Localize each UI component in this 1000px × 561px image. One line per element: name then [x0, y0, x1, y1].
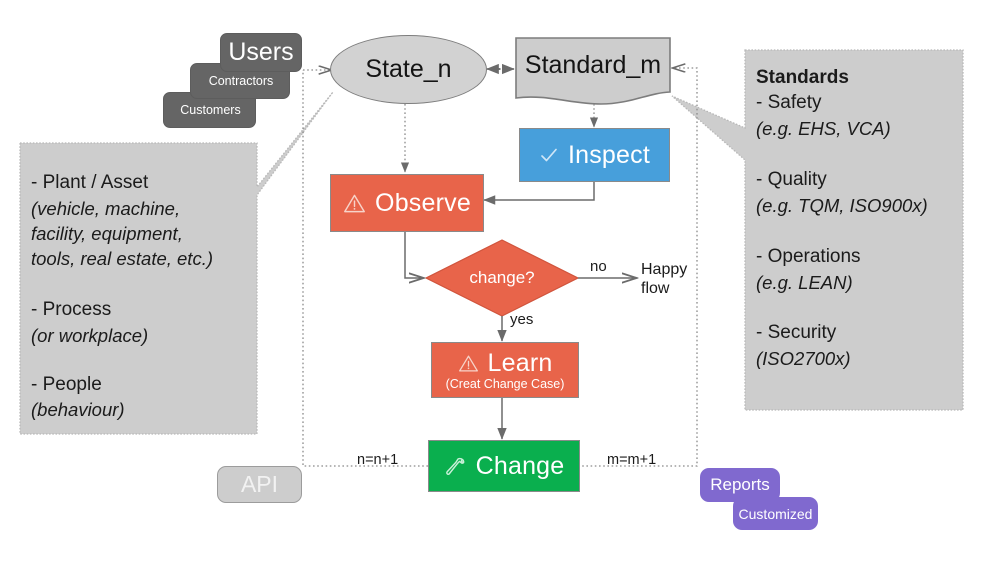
user-card-customers-label: Customers — [178, 103, 240, 117]
right-panel-line-5: - Operations — [756, 245, 861, 270]
user-card-contractors-label: Contractors — [207, 74, 274, 88]
node-inspect-label: Inspect — [568, 141, 650, 170]
left-panel-line-1: (vehicle, machine, — [31, 197, 180, 221]
left-panel-line-7: (behaviour) — [31, 398, 125, 422]
chip-api-label: API — [241, 471, 278, 498]
edge-change-to-state-feedback — [303, 70, 428, 466]
warning-triangle-icon — [458, 354, 479, 373]
node-change[interactable]: Change — [428, 440, 580, 492]
node-standard-m[interactable]: Standard_m — [516, 38, 670, 92]
user-card-users[interactable]: Users — [220, 33, 302, 72]
node-learn-sublabel: (Creat Change Case) — [446, 377, 565, 391]
node-state-n-label: State_n — [365, 55, 451, 84]
check-icon — [539, 145, 559, 165]
diagram-canvas: Customers Contractors Users - Plant / As… — [0, 0, 1000, 561]
node-learn[interactable]: Learn (Creat Change Case) — [431, 342, 579, 398]
edge-label-m-increment: m=m+1 — [607, 452, 656, 468]
user-card-users-label: Users — [228, 38, 293, 67]
right-panel-line-7: - Security — [756, 321, 836, 346]
left-panel-line-0: - Plant / Asset — [31, 171, 148, 196]
right-panel-line-1: - Safety — [756, 91, 821, 116]
chip-customized-label: Customized — [739, 506, 813, 522]
left-panel-line-3: tools, real estate, etc.) — [31, 247, 213, 271]
right-panel-line-3: - Quality — [756, 168, 827, 193]
chip-reports-label: Reports — [710, 475, 770, 495]
right-panel-line-2: (e.g. EHS, VCA) — [756, 117, 891, 141]
edge-label-happy-flow-line2: flow — [641, 280, 669, 298]
left-panel-line-4: - Process — [31, 298, 111, 323]
node-observe-label: Observe — [375, 189, 471, 218]
chip-api[interactable]: API — [217, 466, 302, 503]
node-state-n[interactable]: State_n — [330, 35, 487, 104]
left-panel-line-5: (or workplace) — [31, 324, 148, 348]
edge-label-no: no — [590, 258, 607, 275]
node-decision-change[interactable]: change? — [452, 266, 552, 290]
left-panel-line-6: - People — [31, 373, 102, 398]
node-decision-label: change? — [469, 268, 534, 288]
right-panel-line-8: (ISO2700x) — [756, 347, 851, 371]
right-panel-line-4: (e.g. TQM, ISO900x) — [756, 194, 928, 218]
edge-label-n-increment: n=n+1 — [357, 452, 398, 468]
node-inspect[interactable]: Inspect — [519, 128, 670, 182]
right-panel-line-0: Standards — [756, 66, 849, 91]
right-panel-line-6: (e.g. LEAN) — [756, 271, 853, 295]
edge-observe-to-decision — [405, 232, 423, 278]
left-panel-line-2: facility, equipment, — [31, 222, 183, 246]
node-learn-title-row: Learn — [458, 349, 553, 378]
edge-label-yes: yes — [510, 311, 533, 328]
warning-triangle-icon — [343, 193, 366, 214]
node-change-label: Change — [476, 452, 565, 481]
hammer-icon — [444, 456, 467, 477]
node-observe[interactable]: Observe — [330, 174, 484, 232]
edge-inspect-to-observe — [484, 182, 594, 200]
chip-customized[interactable]: Customized — [733, 497, 818, 530]
edge-label-happy-flow-line1: Happy — [641, 261, 687, 279]
node-learn-label: Learn — [488, 349, 553, 378]
node-standard-m-label: Standard_m — [525, 51, 661, 80]
